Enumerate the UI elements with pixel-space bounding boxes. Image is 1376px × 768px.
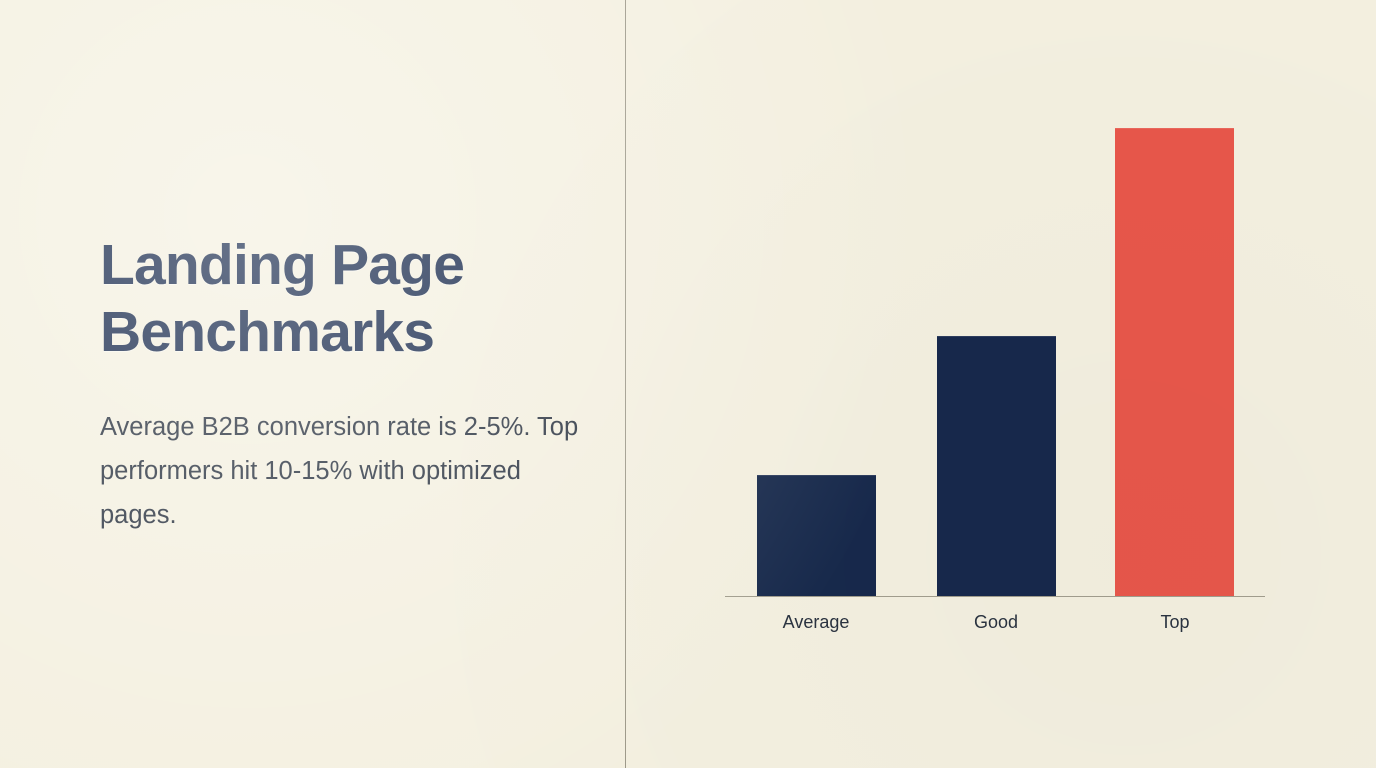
bar-top-fill (1115, 128, 1234, 596)
bar-average-fill (757, 475, 876, 596)
tick-label-good: Good (916, 608, 1076, 636)
left-text-panel: Landing Page Benchmarks Average B2B conv… (0, 0, 625, 768)
slide-canvas: Landing Page Benchmarks Average B2B conv… (0, 0, 1376, 768)
x-axis-line (725, 596, 1265, 597)
page-title: Landing Page Benchmarks (100, 232, 590, 367)
bar-good (937, 336, 1056, 596)
chart-plot-area (725, 100, 1265, 596)
tick-label-top: Top (1095, 608, 1255, 636)
bar-good-fill (937, 336, 1056, 596)
x-axis-tick-labels: Average Good Top (725, 608, 1265, 648)
page-subtitle: Average B2B conversion rate is 2-5%. Top… (100, 406, 600, 538)
bar-average (757, 475, 876, 596)
bar-chart: Average Good Top (725, 100, 1265, 660)
bar-top (1115, 128, 1234, 596)
tick-label-average: Average (736, 608, 896, 636)
right-chart-panel: Average Good Top (626, 0, 1376, 768)
